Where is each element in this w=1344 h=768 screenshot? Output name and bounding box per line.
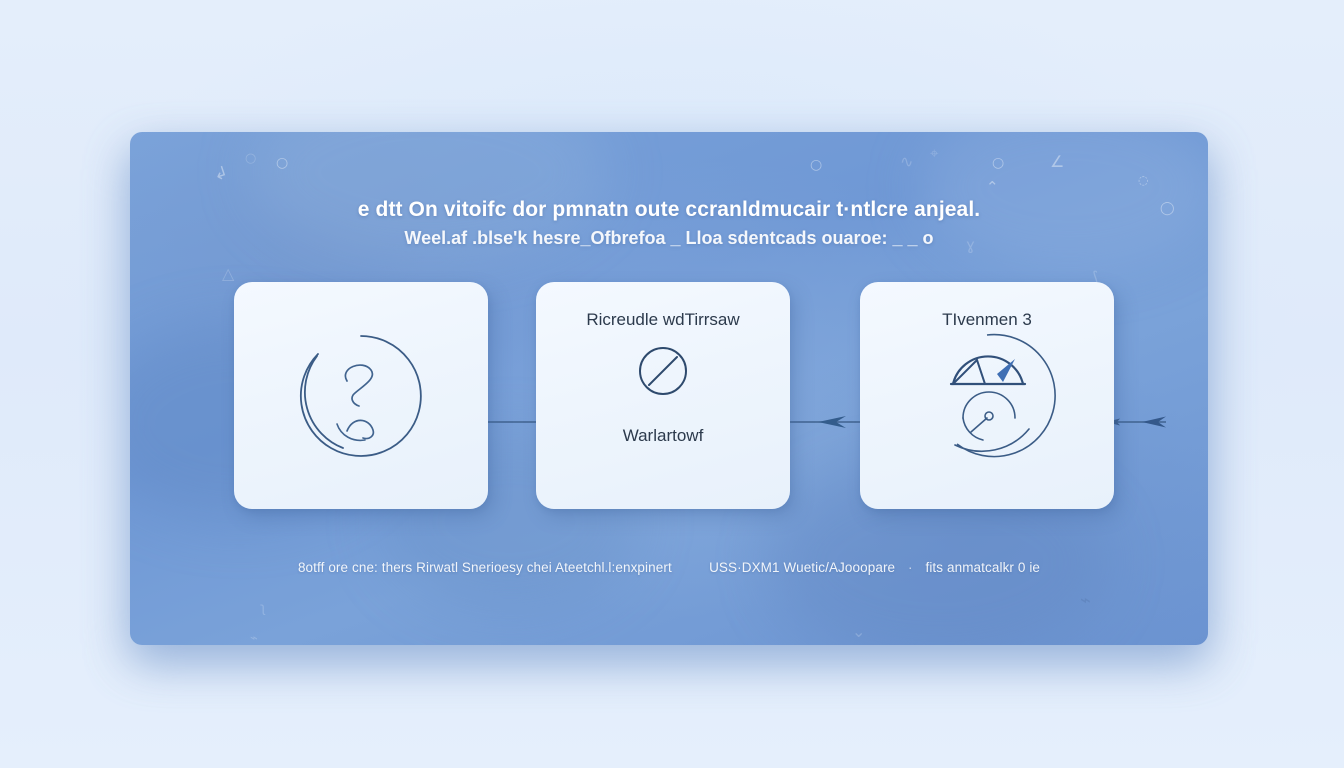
page-title: e dtt On vitoifc dor pmnatn oute ccranld…	[130, 198, 1208, 222]
decor-glyph-circle-icon: ○	[992, 156, 1004, 170]
decor-glyph-circle-icon: ◯	[1160, 202, 1175, 215]
panel-blotch-5	[250, 132, 610, 262]
page-subtitle: Weel.af .blse'k hesre_Ofbrefoa _ Lloa sd…	[130, 228, 1208, 249]
decor-glyph-hook-icon: ʅ	[260, 602, 266, 615]
footer-text-tertiary: fits anmatcalkr 0 ie	[925, 560, 1040, 575]
card-item[interactable]: TIvenmen 3	[860, 282, 1114, 509]
decor-glyph-wave-icon: ∿	[900, 154, 913, 170]
card-label: Warlartowf	[536, 426, 790, 446]
decor-glyph-circle-icon: ○	[810, 158, 822, 172]
decor-glyph-cursor-icon: ⌃	[986, 180, 999, 195]
gauge-circle-icon	[917, 326, 1057, 471]
decor-glyph-circle-icon: ○	[245, 152, 256, 165]
decor-glyph-stroke-icon: ⌁	[1080, 592, 1091, 610]
decor-glyph-caret-icon: ⌄	[852, 624, 865, 640]
card-row: Ricreudle wdTirrsaw Warlartowf TIvenmen …	[130, 282, 1208, 522]
main-panel: ↲ ○ ○ △ ⌁ ○ ∿ ⌖ ○ ⌃ ∠ ◌ ◯ ɣ ⟆ ⌄ ʅ ⌁ e dt…	[130, 132, 1208, 645]
card-item[interactable]: Ricreudle wdTirrsaw Warlartowf	[536, 282, 790, 509]
panel-blotch-4	[920, 132, 1208, 272]
decor-glyph-triangle-icon: △	[222, 266, 234, 282]
footer-text-secondary: USS·DXM1 Wuetic/AJooopare	[709, 560, 895, 575]
decor-glyph-angle-icon: ∠	[1050, 154, 1064, 170]
decor-glyph-arrow-icon: ↲	[212, 164, 231, 185]
footer-caption: 8otff ore cne: thers Rirwatl Snerioesy c…	[130, 560, 1208, 575]
panel-heading-block: e dtt On vitoifc dor pmnatn oute ccranld…	[130, 198, 1208, 249]
decor-glyph-tick-icon: ⌁	[250, 632, 258, 645]
decor-glyph-flag-icon: ⌖	[930, 146, 938, 161]
sync-circle-icon	[291, 326, 431, 471]
prohibition-circle-icon	[636, 344, 690, 403]
decor-glyph-circle-icon: ◌	[1138, 174, 1148, 186]
decor-glyph-circle-icon: ○	[276, 156, 288, 170]
footer-text-primary: 8otff ore cne: thers Rirwatl Snerioesy c…	[298, 560, 672, 575]
footer-separator: ·	[899, 560, 922, 575]
card-item[interactable]	[234, 282, 488, 509]
footer-gap	[676, 560, 706, 575]
card-title: Ricreudle wdTirrsaw	[536, 310, 790, 330]
decor-glyph-squiggle-icon: ɣ	[966, 238, 975, 253]
